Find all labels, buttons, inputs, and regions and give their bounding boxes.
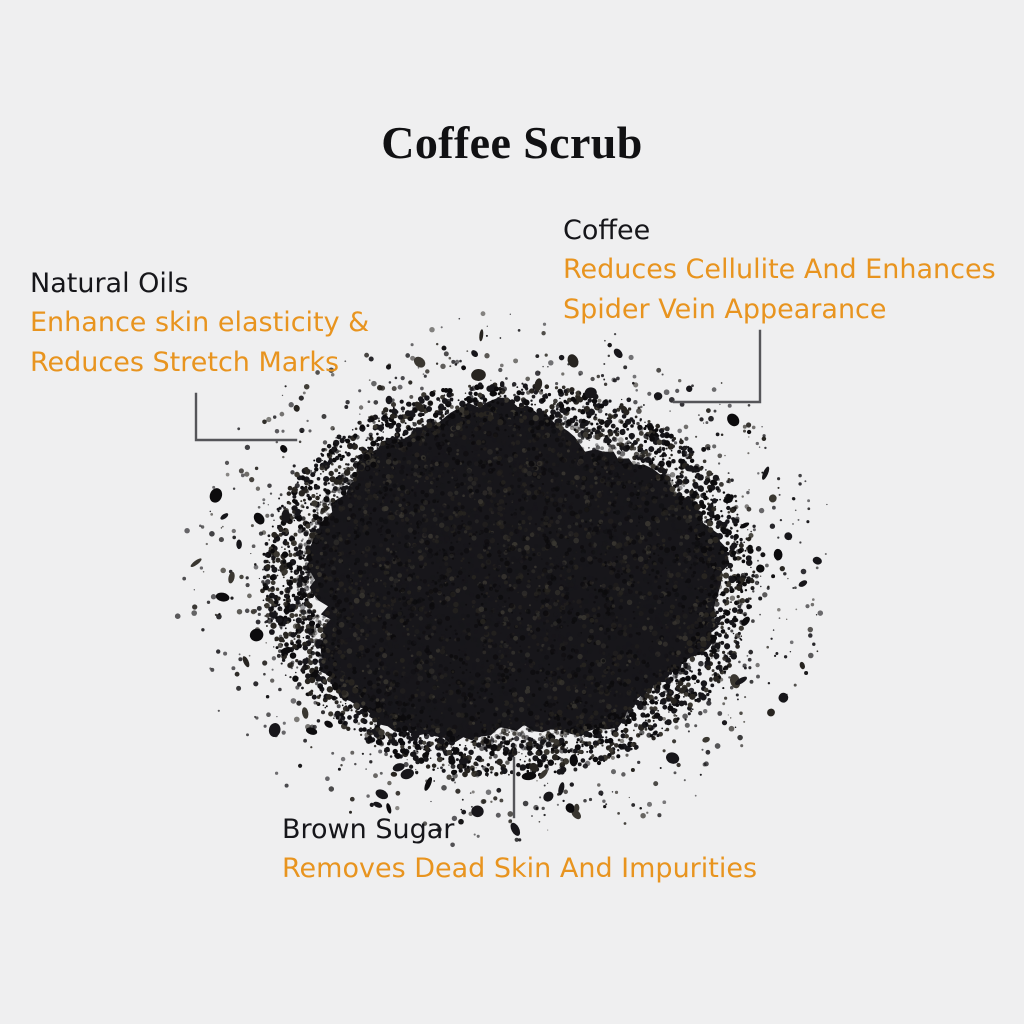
callout-coffee-description: Reduces Cellulite And Enhances Spider Ve…: [563, 250, 996, 331]
callout-brown-sugar: Brown Sugar Removes Dead Skin And Impuri…: [282, 814, 757, 889]
callout-brown-sugar-heading: Brown Sugar: [282, 814, 757, 847]
callout-natural-oils-heading: Natural Oils: [30, 268, 369, 301]
callout-brown-sugar-description: Removes Dead Skin And Impurities: [282, 849, 757, 890]
callout-natural-oils-description: Enhance skin elasticity & Reduces Stretc…: [30, 303, 369, 384]
infographic-poster: Coffee Scrub Natural Oils Enhance skin e…: [0, 0, 1024, 1024]
callout-natural-oils: Natural Oils Enhance skin elasticity & R…: [30, 268, 369, 384]
callout-coffee-heading: Coffee: [563, 215, 996, 248]
page-title: Coffee Scrub: [0, 120, 1024, 166]
callout-coffee: Coffee Reduces Cellulite And Enhances Sp…: [563, 215, 996, 331]
